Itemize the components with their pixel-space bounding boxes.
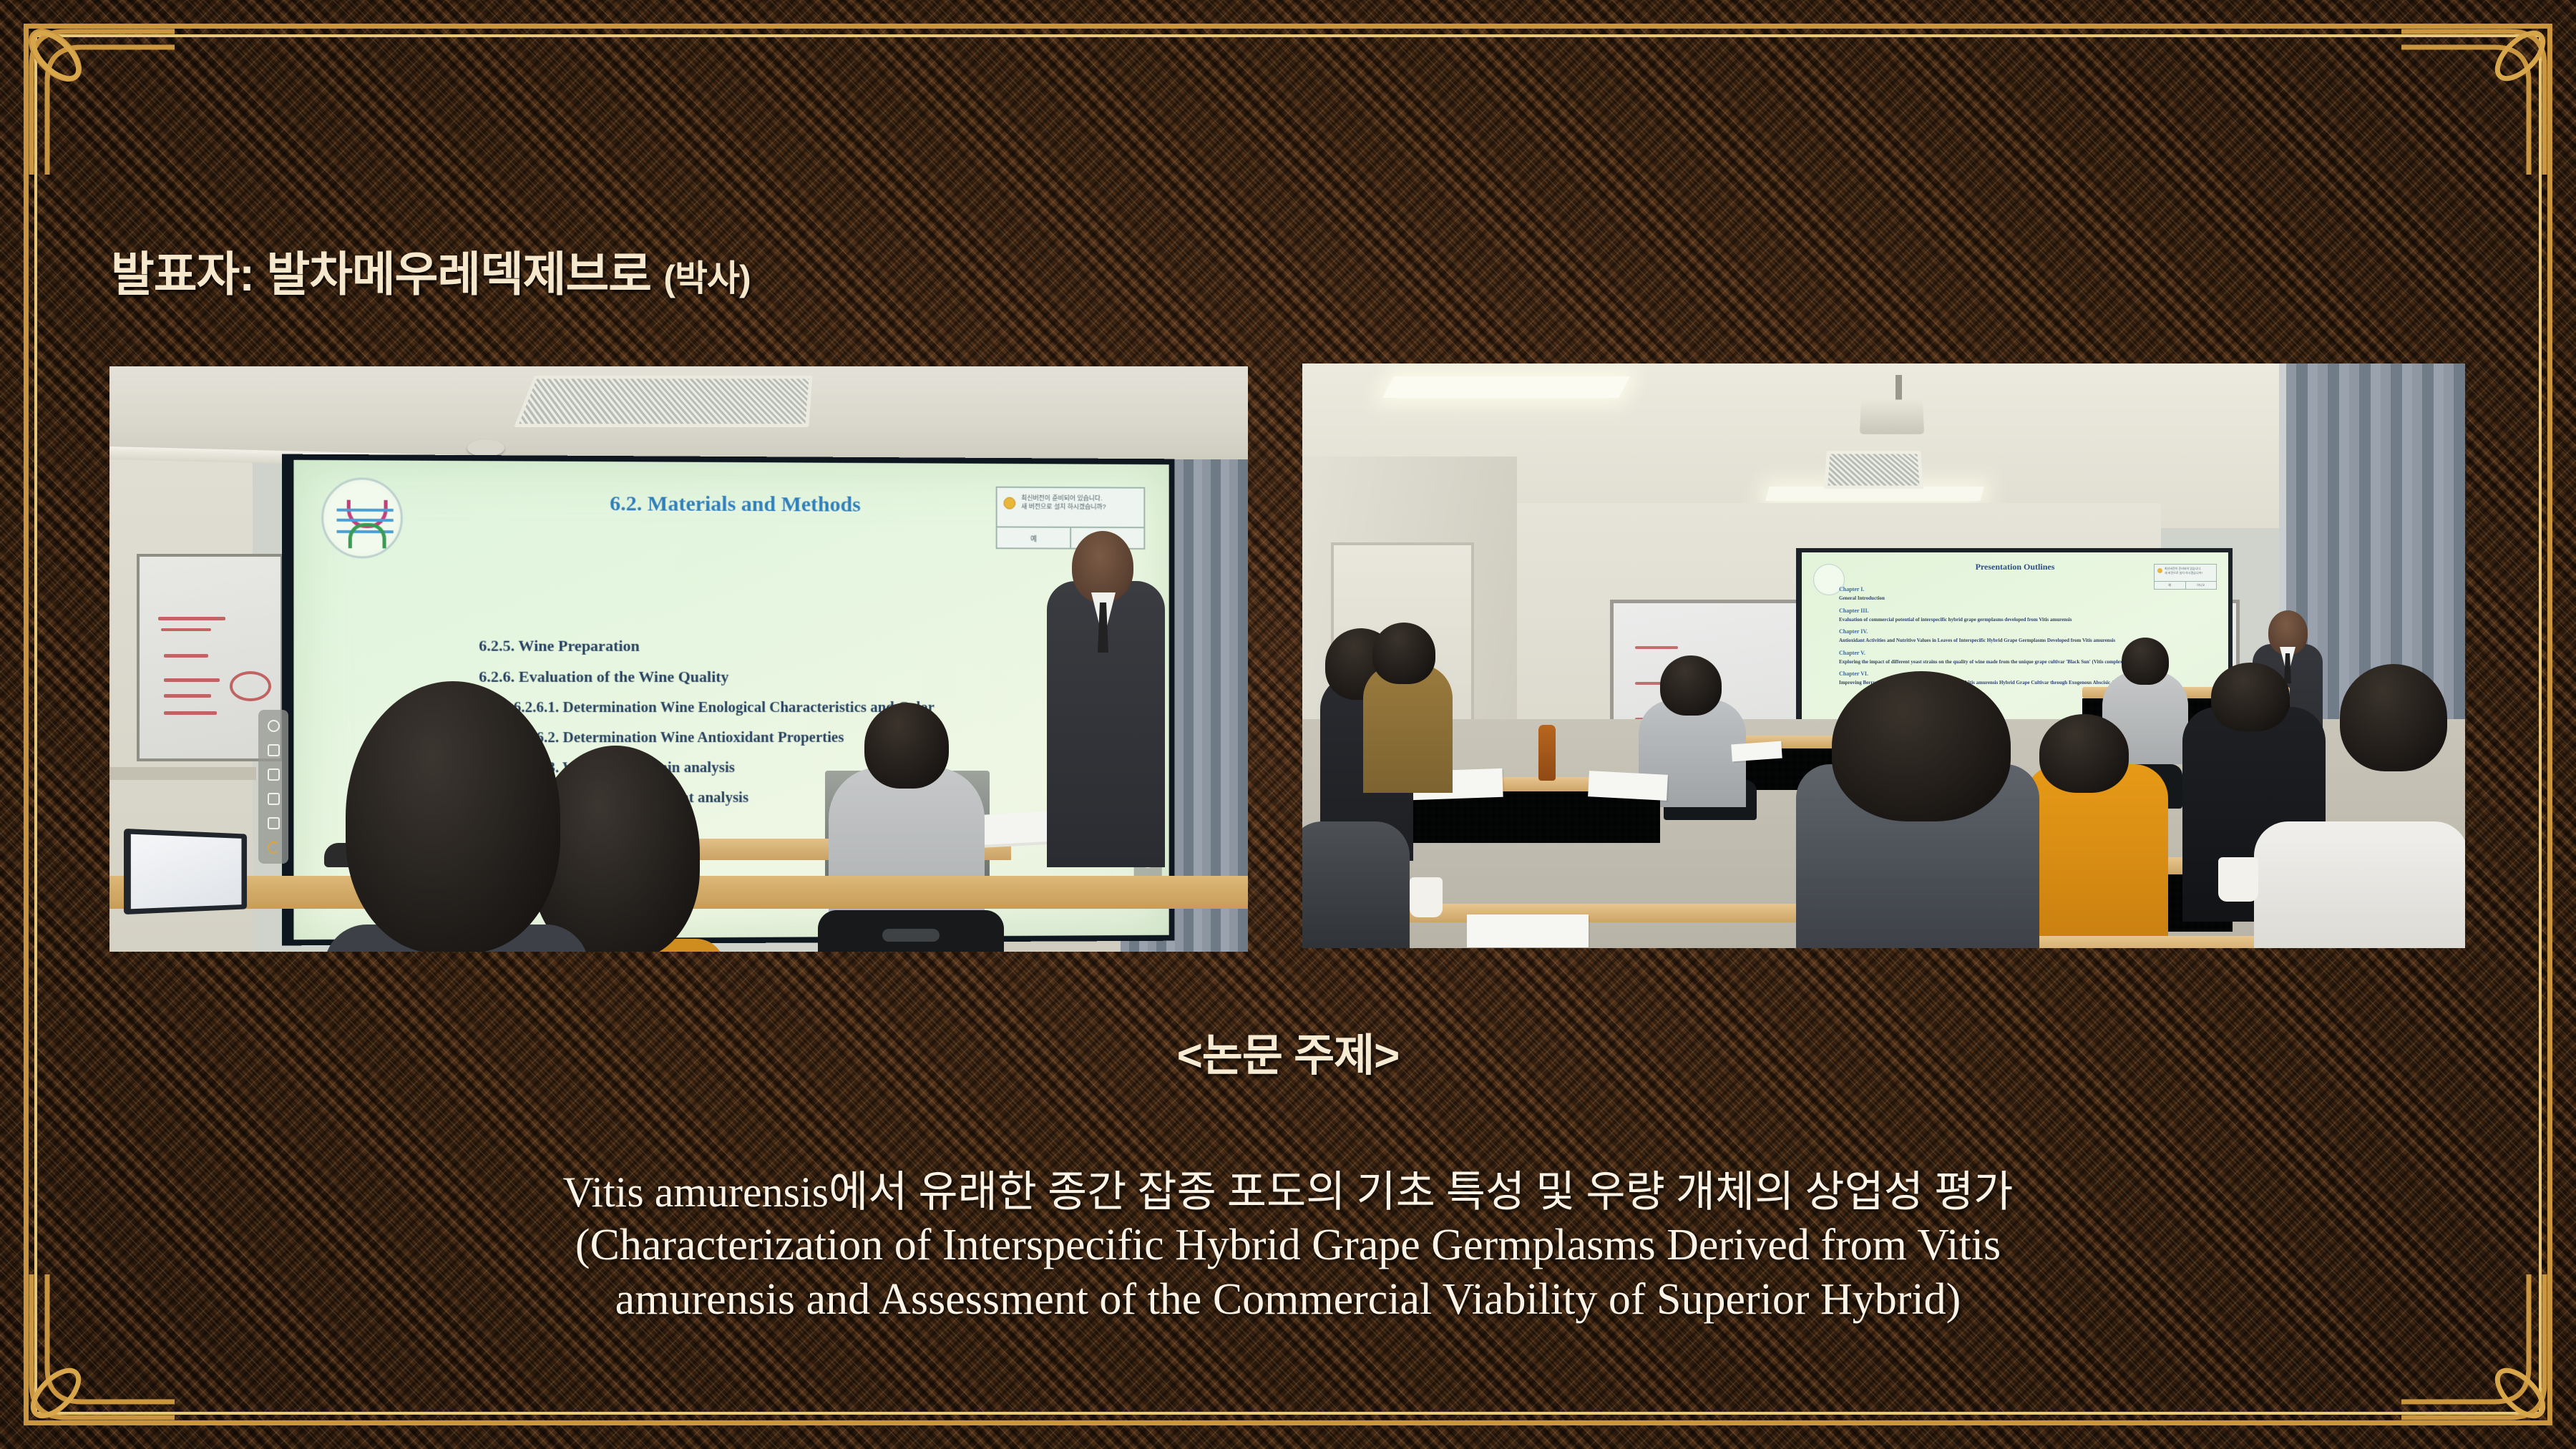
attendee-head: [1660, 655, 1722, 716]
screen-toolbar-left[interactable]: [258, 710, 288, 864]
drink-bottle: [1538, 725, 1556, 781]
warning-icon: [1003, 497, 1015, 509]
slide-bullet: 6.2.6. Evaluation of the Wine Quality: [479, 668, 1141, 686]
dialog-line-1: 최신버전이 준비되어 있습니다.: [1021, 494, 1139, 503]
dialog-line-2: 새 버전으로 설치 하시겠습니까?: [2165, 571, 2215, 575]
attendee-head: [2122, 638, 2169, 685]
attendee-head: [2039, 714, 2129, 793]
smoke-detector-icon: [467, 439, 504, 457]
arrow-right-icon[interactable]: [268, 817, 280, 829]
attendee-head: [2340, 664, 2447, 771]
dialog-line-2: 새 버전으로 설치 하시겠습니까?: [1021, 502, 1139, 512]
university-logo-icon: [321, 477, 403, 558]
thesis-title-line-1: Vitis amurensis에서 유래한 종간 잡종 포도의 기초 특성 및 …: [79, 1166, 2497, 1219]
ceiling-light-1: [1382, 376, 1630, 398]
laptop: [124, 829, 247, 914]
arrow-left-icon[interactable]: [268, 793, 280, 805]
dialog-yes-button[interactable]: 예: [997, 527, 1070, 547]
attendee-torso: [1302, 821, 1410, 948]
ceiling-air-vent: [1824, 451, 1923, 489]
thesis-title-line-2: (Characterization of Interspecific Hybri…: [79, 1219, 2497, 1273]
slide-bullet: 6.2.6.2. Determination Wine Antioxidant …: [479, 728, 1141, 747]
attendee-head: [1372, 623, 1435, 684]
paper-cup: [1410, 877, 1443, 917]
slide-bullet: 6.2.5. Wine Preparation: [479, 637, 1141, 656]
outline-text: General Introduction: [1839, 595, 2214, 602]
photo-presentation-close: 6.2. Materials and Methods 최신버전이 준비되어 있습…: [109, 366, 1248, 952]
dialog-message: 최신버전이 준비되어 있습니다. 새 버전으로 설치 하시겠습니까?: [2165, 567, 2215, 575]
outline-text: Evaluation of commercial potential of in…: [1839, 616, 2214, 624]
paper: [1467, 914, 1589, 947]
subject-header: <논문 주제>: [0, 1019, 2576, 1083]
pen-icon[interactable]: [268, 744, 280, 756]
coffee-cup: [2218, 857, 2258, 902]
ceiling-projector: [1860, 399, 1924, 434]
chair-back: [818, 910, 1004, 952]
paper: [1731, 741, 1782, 762]
paper: [1588, 771, 1668, 801]
projector-mount: [1896, 375, 1902, 402]
attendee-head: [2211, 663, 2290, 731]
slide-canvas: 발표자: 발차메우레덱제브로 (박사): [0, 0, 2576, 1449]
target-icon[interactable]: [268, 720, 280, 732]
corner-ornament-top-right-icon: [2401, 10, 2566, 175]
seated-person-head: [864, 703, 949, 789]
foreground-person-head: [1832, 671, 2011, 821]
slide-bullet: 6.2.6.1. Determination Wine Enological C…: [479, 698, 1141, 716]
presenter-degree-text: (박사): [663, 258, 750, 298]
outline-chapter: Chapter IV.: [1839, 628, 2214, 635]
left-wall-band: [109, 767, 256, 780]
foreground-person-1-head: [346, 681, 560, 952]
foreground-person-white-sleeve: [2254, 821, 2465, 948]
thesis-title-block: Vitis amurensis에서 유래한 종간 잡종 포도의 기초 특성 및 …: [79, 1166, 2497, 1327]
outline-chapter: Chapter III.: [1839, 608, 2214, 614]
dialog-message: 최신버전이 준비되어 있습니다. 새 버전으로 설치 하시겠습니까?: [1021, 494, 1139, 512]
undo-icon[interactable]: [268, 841, 280, 854]
presenter-name-line: 발표자: 발차메우레덱제브로 (박사): [111, 236, 751, 305]
shape-icon[interactable]: [268, 769, 280, 781]
presenter-head: [1072, 531, 1133, 602]
presenter-name-text: 발표자: 발차메우레덱제브로: [111, 248, 651, 301]
outline-chapter: Chapter I.: [1839, 586, 2214, 592]
thesis-title-line-3: amurensis and Assessment of the Commerci…: [79, 1273, 2497, 1327]
corner-ornament-top-left-icon: [10, 10, 175, 175]
warning-icon: [2157, 568, 2162, 573]
ceiling-air-vent: [514, 376, 812, 427]
photo-classroom-wide: Presentation Outlines 최신버전이 준비되어 있습니다. 새…: [1302, 364, 2465, 948]
